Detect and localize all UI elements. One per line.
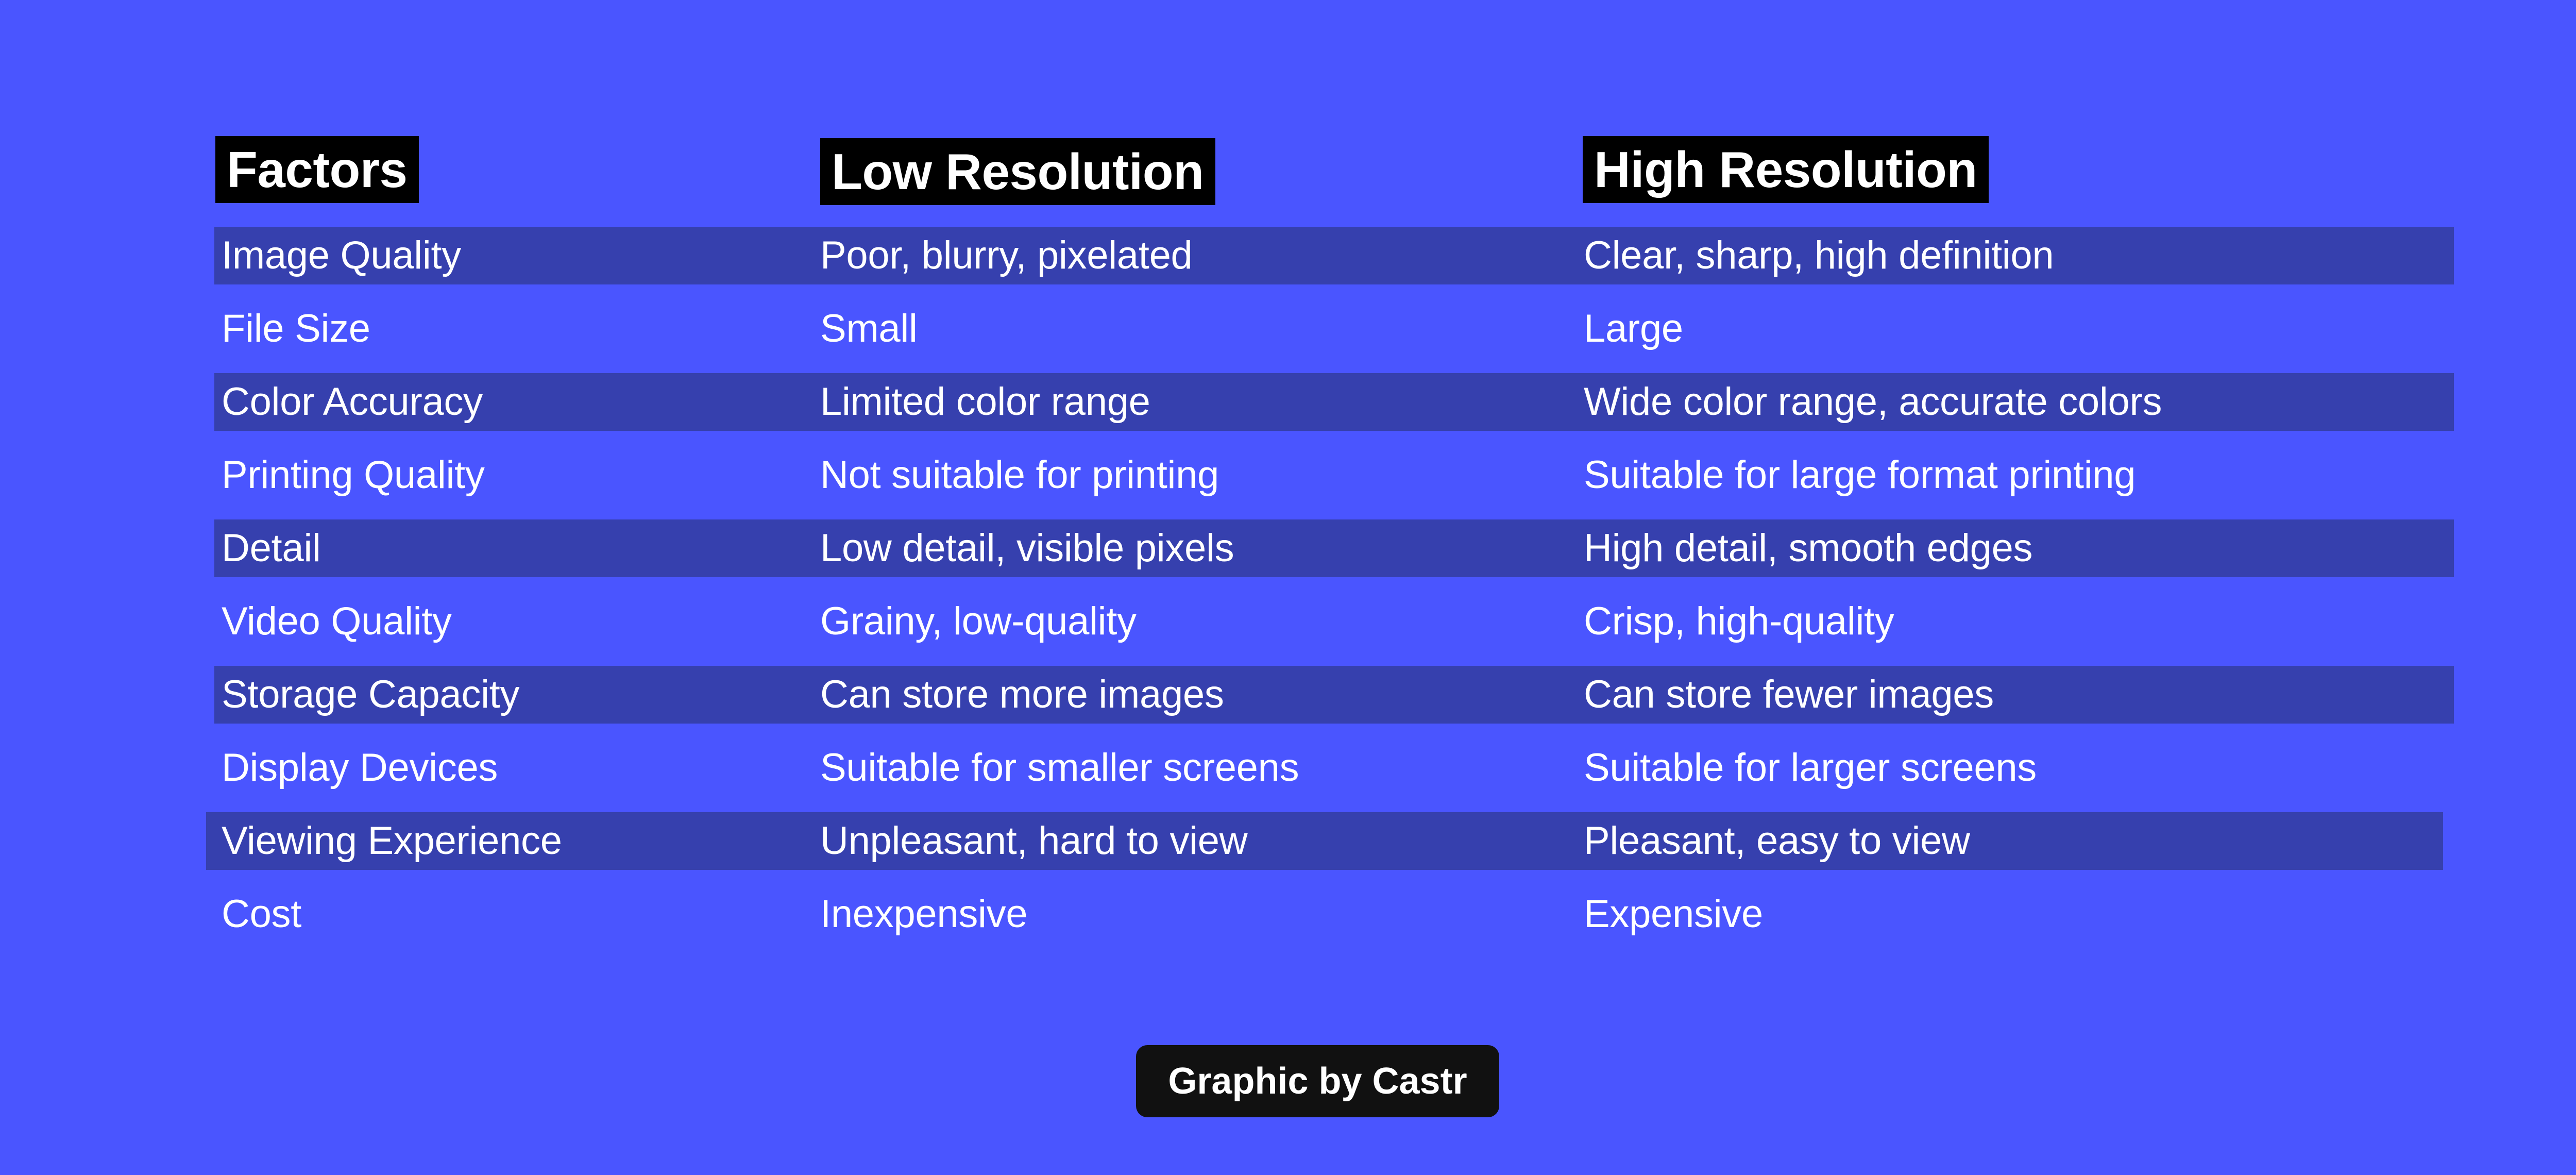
footer: Graphic by Castr xyxy=(0,1045,2576,1117)
table-row: Image QualityPoor, blurry, pixelatedClea… xyxy=(0,227,2576,300)
cell-high-resolution: Suitable for larger screens xyxy=(1584,739,2037,797)
column-header-high-resolution: High Resolution xyxy=(1583,136,1989,203)
row-stripe xyxy=(214,666,2454,724)
cell-factor: Image Quality xyxy=(222,227,461,284)
cell-low-resolution: Limited color range xyxy=(820,373,1150,431)
cell-low-resolution: Not suitable for printing xyxy=(820,446,1219,504)
credit-badge: Graphic by Castr xyxy=(1136,1045,1499,1117)
cell-high-resolution: Pleasant, easy to view xyxy=(1584,812,1970,870)
cell-low-resolution: Inexpensive xyxy=(820,885,1027,943)
cell-high-resolution: High detail, smooth edges xyxy=(1584,519,2032,577)
cell-low-resolution: Poor, blurry, pixelated xyxy=(820,227,1193,284)
cell-factor: Cost xyxy=(222,885,301,943)
cell-factor: Printing Quality xyxy=(222,446,485,504)
table-row: DetailLow detail, visible pixelsHigh det… xyxy=(0,519,2576,593)
table-body: Image QualityPoor, blurry, pixelatedClea… xyxy=(0,227,2576,979)
cell-factor: Detail xyxy=(222,519,321,577)
row-stripe xyxy=(214,227,2454,284)
cell-high-resolution: Suitable for large format printing xyxy=(1584,446,2136,504)
cell-low-resolution: Suitable for smaller screens xyxy=(820,739,1299,797)
cell-low-resolution: Low detail, visible pixels xyxy=(820,519,1234,577)
table-row: File SizeSmallLarge xyxy=(0,300,2576,373)
cell-factor: Display Devices xyxy=(222,739,498,797)
table-row: Color AccuracyLimited color rangeWide co… xyxy=(0,373,2576,446)
table-row: Video QualityGrainy, low-qualityCrisp, h… xyxy=(0,593,2576,666)
row-stripe xyxy=(214,519,2454,577)
cell-high-resolution: Large xyxy=(1584,300,1683,358)
table-row: CostInexpensiveExpensive xyxy=(0,885,2576,959)
table-row: Printing QualityNot suitable for printin… xyxy=(0,446,2576,519)
infographic-canvas: Factors Low Resolution High Resolution I… xyxy=(0,0,2576,1175)
cell-factor: Storage Capacity xyxy=(222,666,519,724)
column-header-factors: Factors xyxy=(215,136,419,203)
table-row: Viewing ExperienceUnpleasant, hard to vi… xyxy=(0,812,2576,885)
table-header-row: Factors Low Resolution High Resolution xyxy=(0,133,2576,205)
cell-high-resolution: Can store fewer images xyxy=(1584,666,1994,724)
column-header-low-resolution: Low Resolution xyxy=(820,138,1215,205)
cell-factor: File Size xyxy=(222,300,370,358)
cell-low-resolution: Small xyxy=(820,300,918,358)
cell-high-resolution: Wide color range, accurate colors xyxy=(1584,373,2162,431)
cell-factor: Video Quality xyxy=(222,593,452,650)
cell-low-resolution: Grainy, low-quality xyxy=(820,593,1137,650)
cell-high-resolution: Expensive xyxy=(1584,885,1763,943)
cell-factor: Viewing Experience xyxy=(222,812,562,870)
cell-high-resolution: Clear, sharp, high definition xyxy=(1584,227,2054,284)
cell-low-resolution: Unpleasant, hard to view xyxy=(820,812,1247,870)
cell-high-resolution: Crisp, high-quality xyxy=(1584,593,1894,650)
table-row: Storage CapacityCan store more imagesCan… xyxy=(0,666,2576,739)
table-row: Display DevicesSuitable for smaller scre… xyxy=(0,739,2576,812)
cell-low-resolution: Can store more images xyxy=(820,666,1224,724)
cell-factor: Color Accuracy xyxy=(222,373,483,431)
